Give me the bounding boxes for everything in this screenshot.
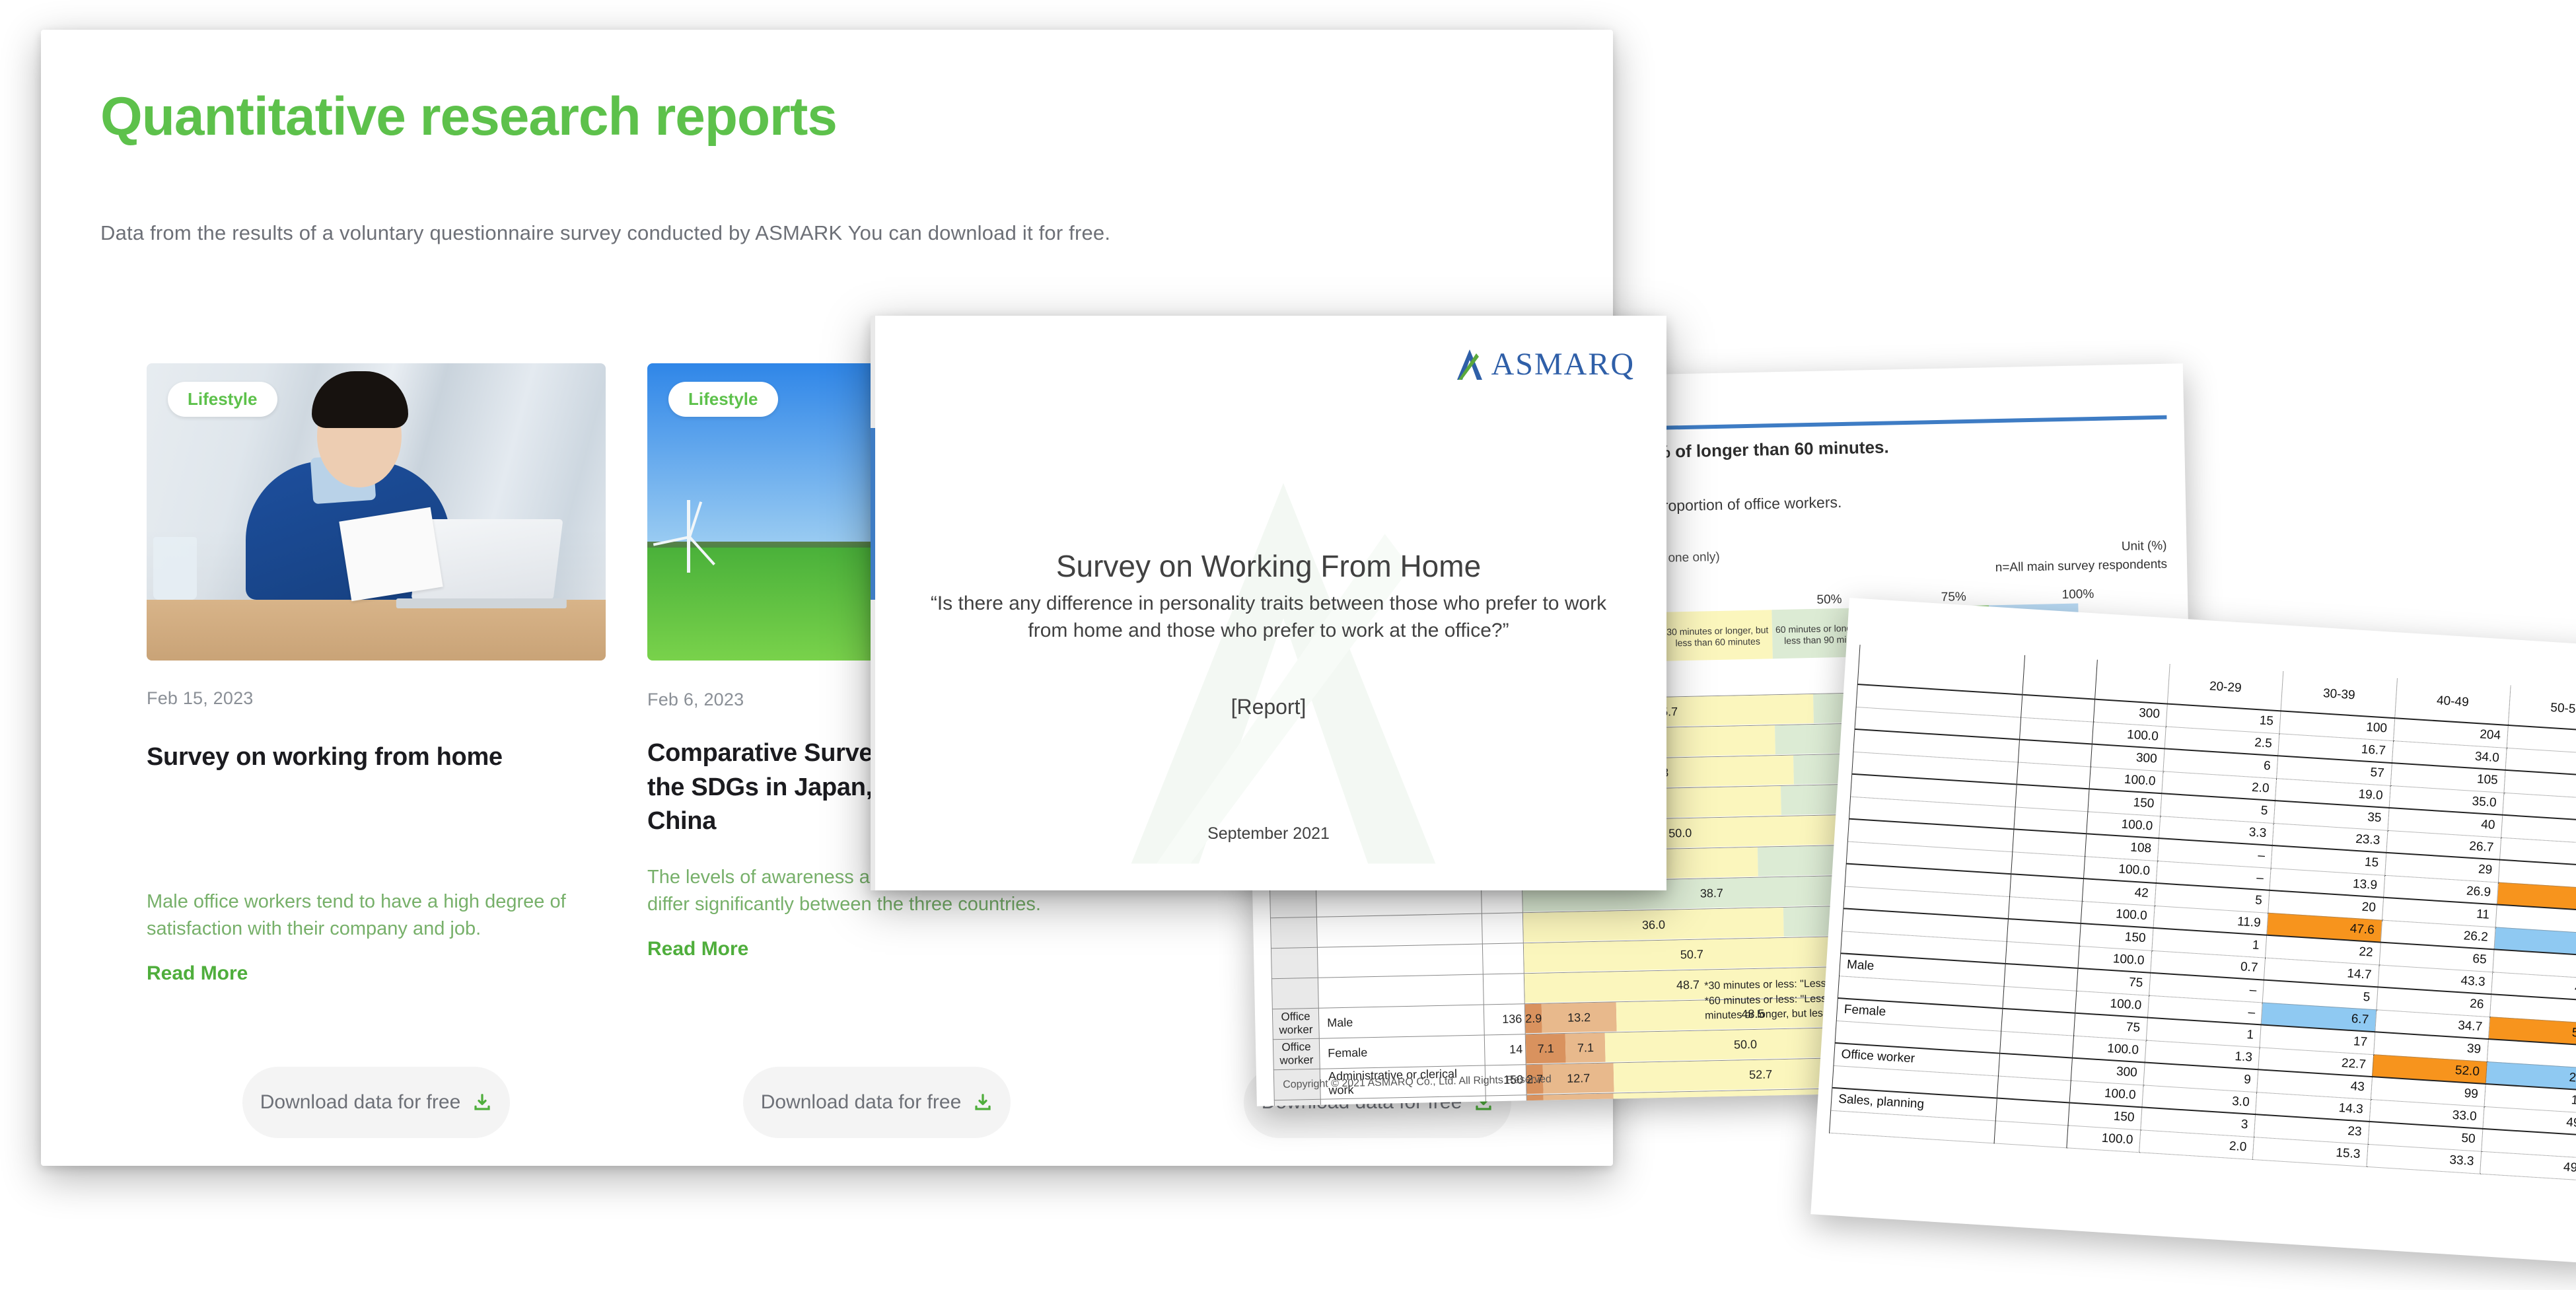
table-row-spacer: [1994, 1120, 2068, 1147]
read-more-link[interactable]: Read More: [647, 938, 1106, 960]
bar-segment: 7.1: [1565, 1033, 1606, 1063]
row-n: [1482, 943, 1524, 974]
age-breakdown-table: 20-2930-3940-4950-59 30015100204281100.0…: [1829, 645, 2576, 1181]
bar-segment: 12.7: [1543, 1063, 1614, 1094]
bar-segment: 36.0: [1523, 908, 1784, 942]
chart-unit-note: Unit (%) n=All main survey respondents: [1995, 537, 2167, 577]
row-n: 14: [1484, 1034, 1526, 1065]
table-column-header: 40-49: [2394, 678, 2511, 725]
table-header-spacer: [2095, 660, 2170, 704]
screenshot-stage: Quantitative research reports Data from …: [0, 0, 2576, 1290]
row-group-label: [1270, 886, 1317, 917]
row-group-label: [1271, 978, 1318, 1009]
row-label: [1316, 914, 1482, 947]
data-table-slide[interactable]: 20-2930-3940-4950-59 30015100204281100.0…: [1810, 598, 2576, 1264]
slide-title-text: Survey on Working From Home: [871, 548, 1666, 584]
read-more-link[interactable]: Read More: [147, 962, 606, 985]
page-subtitle: Data from the results of a voluntary que…: [100, 221, 1110, 245]
row-label: Male: [1318, 1005, 1484, 1038]
table-cell: 49.3: [2480, 1151, 2576, 1181]
row-label: Female: [1319, 1035, 1485, 1069]
page-title: Quantitative research reports: [100, 86, 837, 148]
category-badge[interactable]: Lifestyle: [168, 382, 277, 417]
report-card[interactable]: Lifestyle Feb 15, 2023 Survey on working…: [147, 363, 606, 985]
download-icon: [973, 1093, 993, 1112]
row-label: [1318, 974, 1484, 1008]
asmarq-logo-text: ASMARQ: [1491, 346, 1635, 382]
download-icon: [472, 1093, 492, 1112]
axis-tick: 75%: [1941, 590, 1966, 605]
slide-left-edge: [871, 316, 875, 890]
table-total-cell: 100.0: [2067, 1125, 2141, 1152]
n-note: n=All main survey respondents: [1995, 555, 2167, 577]
download-data-button[interactable]: Download data for free: [242, 1067, 510, 1138]
row-group-label: Office worker: [1273, 1038, 1320, 1069]
bar-segment: 13.2: [1542, 1003, 1617, 1033]
row-n: [1483, 974, 1524, 1005]
table-header-spacer: [2022, 655, 2098, 699]
slide-subtitle-text: “Is there any difference in personality …: [918, 591, 1619, 644]
slide-report-tag: [Report]: [871, 695, 1666, 719]
segment-header: 30 minutes or longer, but less than 60 m…: [1663, 610, 1772, 661]
table-body: 30015100204281100.02.516.734.046.8300657…: [1830, 684, 2576, 1180]
download-data-button[interactable]: Download data for free: [743, 1067, 1011, 1138]
row-n: 136: [1484, 1004, 1525, 1035]
card-date: Feb 15, 2023: [147, 688, 606, 709]
axis-tick: 100%: [2061, 587, 2094, 602]
table-column-header: 20-29: [2167, 664, 2283, 711]
row-group-label: Office worker: [1272, 1008, 1319, 1039]
card-description: Male office workers tend to have a high …: [147, 888, 606, 943]
title-slide[interactable]: ASMARQ Survey on Working From Home “Is t…: [871, 316, 1666, 890]
asmarq-logo: ASMARQ: [1454, 346, 1635, 382]
card-thumbnail[interactable]: Lifestyle: [147, 363, 606, 661]
download-button-label: Download data for free: [761, 1091, 962, 1114]
row-n: [1482, 913, 1523, 944]
row-group-label: [1270, 917, 1317, 948]
slide-date: September 2021: [871, 824, 1666, 843]
bar-segment: 2.9: [1525, 1004, 1542, 1034]
table-column-header: 30-39: [2281, 671, 2397, 718]
card-title[interactable]: Survey on working from home: [147, 740, 606, 775]
axis-tick: 50%: [1816, 592, 1842, 608]
download-button-label: Download data for free: [260, 1091, 461, 1114]
row-label: [1317, 944, 1483, 978]
bar-segment: 7.1: [1526, 1034, 1566, 1063]
asmarq-logo-mark-icon: [1454, 347, 1485, 382]
asmarq-watermark-icon: [1072, 458, 1495, 880]
row-group-label: [1271, 947, 1318, 978]
category-badge[interactable]: Lifestyle: [668, 382, 778, 417]
